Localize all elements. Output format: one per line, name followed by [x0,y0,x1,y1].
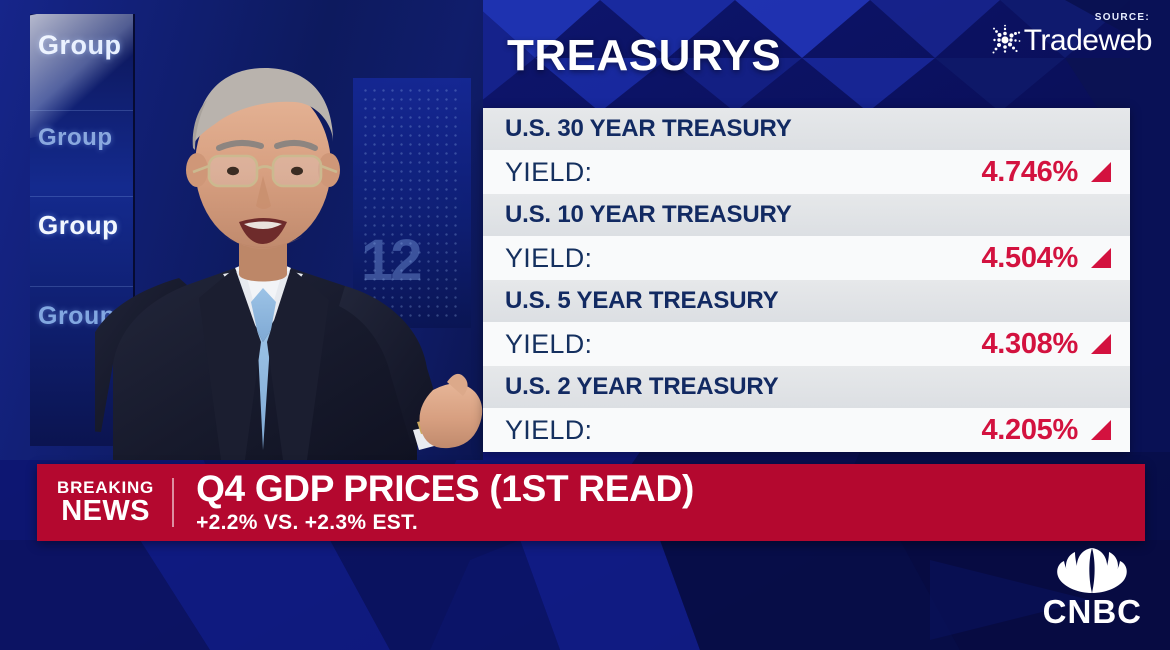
table-row: YIELD: 4.205% [483,408,1130,452]
arrow-up-icon [1090,161,1112,183]
metric-label: YIELD: [505,329,592,360]
metric-label: YIELD: [505,157,592,188]
metric-label: YIELD: [505,243,592,274]
headline-text: Q4 GDP PRICES (1ST READ) [196,470,694,509]
arrow-up-icon [1090,333,1112,355]
network-name: CNBC [1043,595,1142,628]
badge-line-2: NEWS [61,497,150,526]
table-row-header: U.S. 2 YEAR TREASURY [483,366,1130,408]
arrow-up-icon [1090,419,1112,441]
peacock-icon [1049,542,1135,594]
tradeweb-starburst-icon [990,24,1024,58]
breaking-news-badge: BREAKING NEWS [37,464,172,541]
headline-subtext: +2.2% VS. +2.3% EST. [196,511,694,535]
news-anchor [95,30,483,460]
yield-value: 4.504% [981,242,1078,275]
treasurys-data-panel: U.S. 30 YEAR TREASURY YIELD: 4.746% U.S.… [483,108,1130,452]
table-row-header: U.S. 5 YEAR TREASURY [483,280,1130,322]
table-row-header: U.S. 30 YEAR TREASURY [483,108,1130,150]
yield-value: 4.308% [981,328,1078,361]
source-name: Tradeweb [1024,26,1152,56]
cnbc-logo: CNBC [1043,542,1142,628]
headline-block: Q4 GDP PRICES (1ST READ) +2.2% VS. +2.3%… [174,464,694,541]
table-row: YIELD: 4.746% [483,150,1130,194]
yield-value: 4.205% [981,414,1078,447]
table-row-header: U.S. 10 YEAR TREASURY [483,194,1130,236]
table-row: YIELD: 4.308% [483,322,1130,366]
breaking-news-banner: BREAKING NEWS Q4 GDP PRICES (1ST READ) +… [37,464,1145,541]
source-label: SOURCE: [1095,12,1150,23]
table-row: YIELD: 4.504% [483,236,1130,280]
panel-header: TREASURYS SOURCE: [483,0,1170,108]
panel-title: TREASURYS [507,34,781,78]
arrow-up-icon [1090,247,1112,269]
metric-label: YIELD: [505,415,592,446]
broadcast-screen: 12 Group Group Group Group [0,0,1170,650]
source-attribution: SOURCE: [990,12,1152,58]
yield-value: 4.746% [981,156,1078,189]
anchor-video-feed: 12 Group Group Group Group [0,0,483,460]
